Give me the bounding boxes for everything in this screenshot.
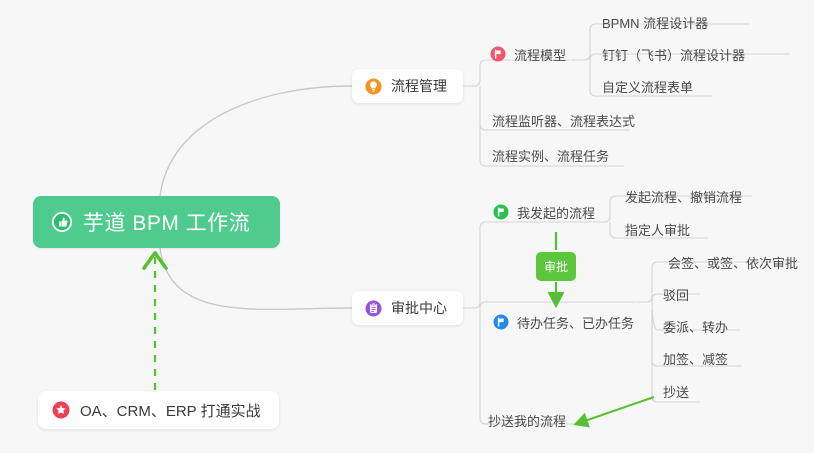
- node-label-cc: 抄送: [663, 382, 689, 401]
- node-cc[interactable]: 抄送: [663, 381, 689, 401]
- node-process-model[interactable]: 流程模型: [490, 44, 566, 64]
- branch-label-approval-center: 审批中心: [391, 298, 447, 318]
- node-start-cancel-process[interactable]: 发起流程、撤销流程: [625, 186, 742, 206]
- branch-node-approval-center[interactable]: 审批中心: [352, 291, 463, 325]
- lightbulb-icon: [365, 78, 382, 95]
- node-process-instance-task[interactable]: 流程实例、流程任务: [492, 145, 609, 165]
- node-label-delegate-transfer: 委派、转办: [663, 317, 728, 336]
- node-label-custom-process-form: 自定义流程表单: [602, 77, 693, 96]
- flag-icon: [493, 314, 509, 330]
- root-label: 芋道 BPM 工作流: [83, 207, 250, 237]
- approval-badge[interactable]: 审批: [536, 252, 576, 281]
- link-root-to-process-management: [160, 86, 352, 196]
- node-add-remove-sign[interactable]: 加签、减签: [663, 348, 728, 368]
- approval-badge-label: 审批: [544, 258, 568, 275]
- arrow-cc-to-cc-to-me: [576, 397, 654, 424]
- node-todo-done-tasks[interactable]: 待办任务、已办任务: [493, 312, 634, 332]
- node-label-dingtalk-feishu-designer: 钉钉（飞书）流程设计器: [602, 45, 745, 64]
- root-node[interactable]: 芋道 BPM 工作流: [33, 196, 280, 248]
- node-label-todo-done-tasks: 待办任务、已办任务: [517, 313, 634, 332]
- node-cc-to-me-process[interactable]: 抄送我的流程: [488, 410, 566, 430]
- node-label-process-instance-task: 流程实例、流程任务: [492, 146, 609, 165]
- node-process-listener-expression[interactable]: 流程监听器、流程表达式: [492, 110, 635, 130]
- node-label-start-cancel-process: 发起流程、撤销流程: [625, 187, 742, 206]
- clipboard-icon: [365, 300, 382, 317]
- node-label-countersign-orsign-sequential: 会签、或签、依次审批: [668, 253, 798, 272]
- flag-icon: [493, 204, 509, 220]
- node-designated-approver[interactable]: 指定人审批: [625, 219, 690, 239]
- node-countersign-orsign-sequential[interactable]: 会签、或签、依次审批: [668, 252, 798, 272]
- link-root-to-approval-center: [160, 248, 352, 309]
- thumbs-up-icon: [51, 211, 73, 233]
- branch-label-process-management: 流程管理: [391, 76, 447, 96]
- node-label-designated-approver: 指定人审批: [625, 220, 690, 239]
- callout-node-integration[interactable]: OA、CRM、ERP 打通实战: [38, 391, 279, 429]
- node-label-my-initiated-process: 我发起的流程: [517, 203, 595, 222]
- node-my-initiated-process[interactable]: 我发起的流程: [493, 202, 595, 222]
- node-label-process-model: 流程模型: [514, 45, 566, 64]
- mindmap-canvas: 芋道 BPM 工作流 流程管理 审批中心: [0, 0, 814, 453]
- node-label-bpmn-designer: BPMN 流程设计器: [602, 13, 708, 32]
- node-label-add-remove-sign: 加签、减签: [663, 349, 728, 368]
- callout-label: OA、CRM、ERP 打通实战: [80, 400, 261, 421]
- node-bpmn-designer[interactable]: BPMN 流程设计器: [602, 12, 708, 32]
- node-delegate-transfer[interactable]: 委派、转办: [663, 316, 728, 336]
- branch-node-process-management[interactable]: 流程管理: [352, 69, 463, 103]
- link-ac-to-todo-done: [480, 302, 636, 308]
- flag-icon: [490, 46, 506, 62]
- node-label-process-listener-expression: 流程监听器、流程表达式: [492, 111, 635, 130]
- node-label-reject: 驳回: [663, 285, 689, 304]
- node-custom-process-form[interactable]: 自定义流程表单: [602, 76, 693, 96]
- node-label-cc-to-me-process: 抄送我的流程: [488, 411, 566, 430]
- node-reject[interactable]: 驳回: [663, 284, 689, 304]
- star-icon: [52, 401, 70, 419]
- node-dingtalk-feishu-designer[interactable]: 钉钉（飞书）流程设计器: [602, 44, 745, 64]
